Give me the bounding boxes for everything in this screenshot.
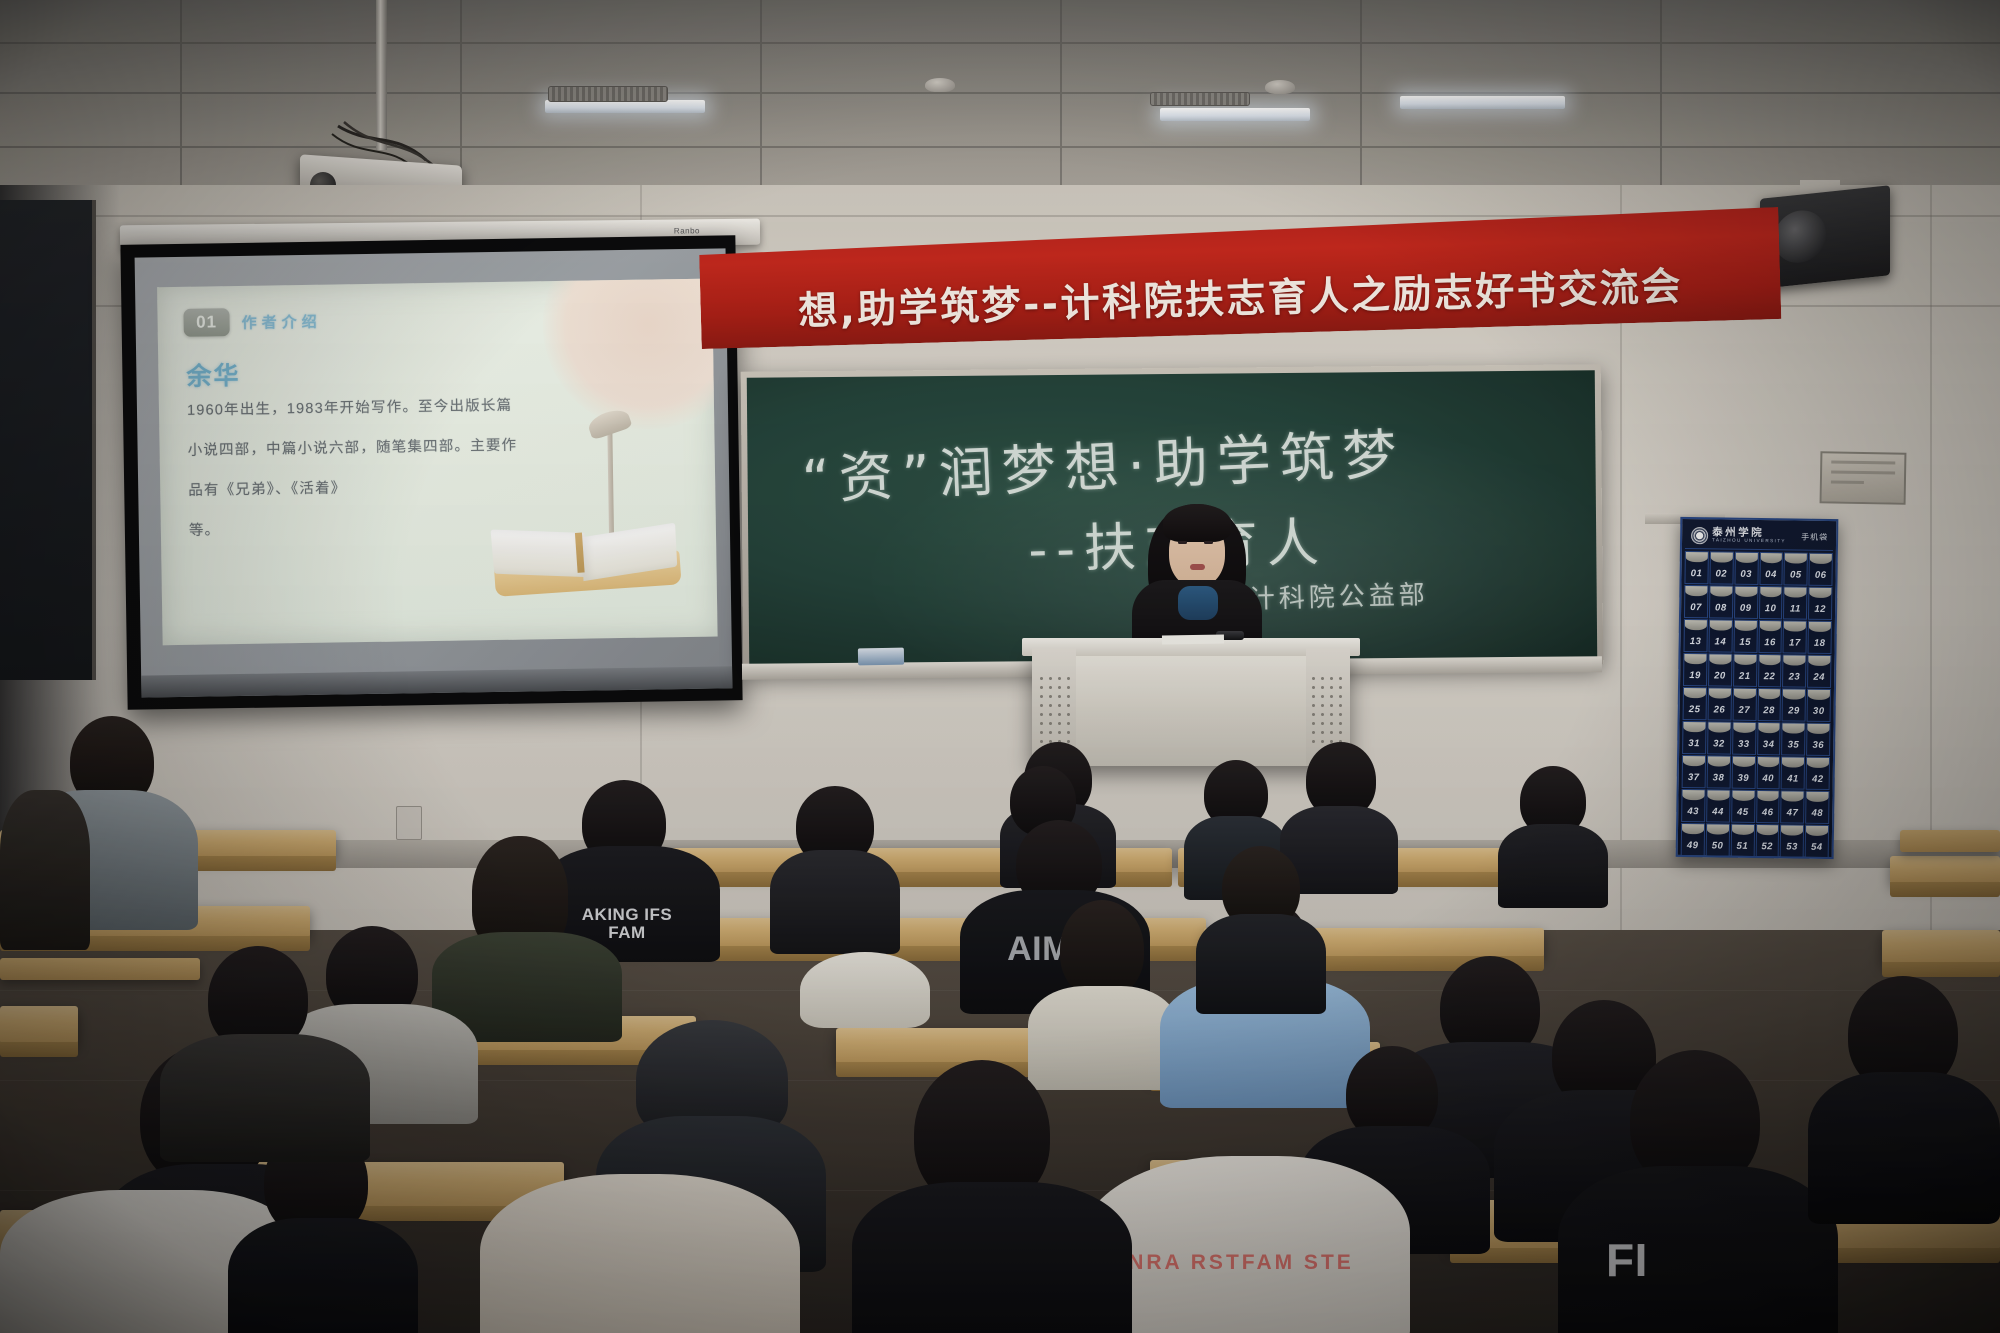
blackboard-eraser[interactable]: [858, 648, 904, 666]
phone-pocket-flap: [1758, 723, 1780, 733]
university-logo-icon: [1691, 527, 1708, 544]
book-page-left: [490, 529, 588, 577]
slide-section-title: 作者介绍: [241, 311, 321, 333]
phone-pocket-flap: [1783, 689, 1805, 699]
projection-screen-surface: 01 作者介绍 余华 1960年出生，1983年开始写作。至今出版长篇 小说四部…: [135, 248, 733, 697]
pocket-board-subtitle: 手机袋: [1801, 531, 1828, 542]
phone-pocket-flap: [1734, 689, 1756, 699]
phone-pocket-flap: [1759, 655, 1781, 665]
phone-pocket-cell[interactable]: 51: [1730, 824, 1754, 857]
phone-pocket-cell[interactable]: 13: [1683, 619, 1707, 652]
phone-pocket-cell[interactable]: 08: [1709, 585, 1733, 618]
phone-pocket-cell[interactable]: 31: [1682, 721, 1706, 754]
phone-pocket-cell[interactable]: 10: [1758, 586, 1782, 619]
phone-pocket-number: 52: [1761, 841, 1773, 852]
phone-pocket-cell[interactable]: 44: [1706, 789, 1730, 822]
phone-pocket-flap: [1684, 688, 1706, 698]
phone-pocket-flap: [1734, 655, 1756, 665]
phone-pocket-number: 22: [1764, 671, 1776, 682]
phone-pocket-number: 31: [1688, 738, 1700, 749]
phone-pocket-number: 29: [1788, 705, 1800, 716]
phone-pocket-cell[interactable]: 23: [1782, 654, 1806, 687]
phone-pocket-number: 49: [1687, 840, 1699, 851]
jacket-graphic-text: FI: [1572, 1236, 1682, 1284]
phone-pocket-cell[interactable]: 32: [1707, 721, 1731, 754]
coat-print-text: NRA RSTFAM STE: [1116, 1252, 1366, 1274]
phone-pocket-flap: [1806, 826, 1828, 836]
phone-pocket-flap: [1733, 757, 1755, 767]
phone-pocket-cell[interactable]: 48: [1805, 791, 1829, 824]
phone-pocket-cell[interactable]: 03: [1734, 552, 1758, 585]
desk-row: [1882, 930, 2000, 964]
phone-pocket-flap: [1807, 758, 1829, 768]
phone-pocket-number: 10: [1765, 603, 1777, 614]
phone-pocket-flap: [1709, 688, 1731, 698]
slide-body-line: 小说四部，中篇小说六部，随笔集四部。主要作: [187, 434, 517, 460]
phone-pocket-cell[interactable]: 42: [1806, 757, 1830, 790]
phone-pocket-flap: [1709, 654, 1731, 664]
phone-pocket-number: 23: [1789, 671, 1801, 682]
phone-pocket-cell[interactable]: 04: [1759, 552, 1783, 585]
phone-pocket-number: 07: [1690, 602, 1702, 613]
power-outlet[interactable]: [396, 806, 422, 840]
phone-pocket-number: 45: [1737, 807, 1749, 818]
student-left-dark: [160, 946, 370, 1146]
phone-pocket-cell[interactable]: 07: [1684, 585, 1708, 618]
phone-pocket-number: 39: [1737, 773, 1749, 784]
phone-pocket-flap: [1735, 553, 1757, 563]
smoke-detector-icon: [1265, 80, 1295, 94]
phone-pocket-number: 04: [1765, 569, 1777, 580]
phone-pocket-flap: [1783, 723, 1805, 733]
phone-pocket-flap: [1808, 724, 1830, 734]
phone-pocket-number: 36: [1812, 740, 1824, 751]
phone-pocket-number: 32: [1713, 738, 1725, 749]
desk-row: [0, 1006, 78, 1044]
phone-pocket-cell[interactable]: 25: [1683, 687, 1707, 720]
phone-pocket-cell[interactable]: 36: [1806, 723, 1830, 756]
phone-pocket-number: 38: [1713, 772, 1725, 783]
phone-pocket-number: 20: [1714, 670, 1726, 681]
phone-pocket-number: 48: [1811, 808, 1823, 819]
phone-pocket-flap: [1782, 791, 1804, 801]
phone-pocket-cell[interactable]: 06: [1809, 553, 1833, 586]
phone-pocket-number: 13: [1690, 636, 1702, 647]
phone-pocket-cell[interactable]: 22: [1758, 654, 1782, 687]
phone-pocket-flap: [1760, 553, 1782, 563]
phone-pocket-number: 08: [1715, 602, 1727, 613]
phone-pocket-cell[interactable]: 21: [1733, 654, 1757, 687]
student: [770, 786, 900, 946]
wall-notice-plate: [1820, 451, 1907, 504]
phone-pocket-cell[interactable]: 12: [1808, 587, 1832, 620]
phone-pocket-cell[interactable]: 28: [1757, 688, 1781, 721]
classroom-photo-scene: Ranbo 01 作者介绍 余华 1960年出生，1983年开始写作。至今出版长…: [0, 0, 2000, 1333]
phone-pocket-flap: [1781, 825, 1803, 835]
phone-pocket-flap: [1707, 790, 1729, 800]
slide-author-name: 余华: [186, 356, 241, 393]
phone-pocket-cell[interactable]: 14: [1708, 619, 1732, 652]
phone-pocket-flap: [1685, 620, 1707, 630]
phone-pocket-number: 43: [1687, 806, 1699, 817]
phone-pocket-cell[interactable]: 53: [1780, 824, 1804, 857]
phone-pocket-cell[interactable]: 17: [1783, 620, 1807, 653]
podium-perforation: [1037, 674, 1073, 748]
phone-pocket-cell[interactable]: 38: [1706, 755, 1730, 788]
phone-pocket-flap: [1707, 824, 1729, 834]
speaker-notes-paper: [1162, 634, 1224, 644]
phone-pocket-cell[interactable]: 01: [1684, 551, 1708, 584]
phone-pocket-cell[interactable]: 35: [1781, 722, 1805, 755]
phone-pocket-cell[interactable]: 37: [1682, 755, 1706, 788]
phone-pocket-cell[interactable]: 50: [1705, 823, 1729, 856]
phone-pocket-number: 14: [1715, 636, 1727, 647]
phone-pocket-flap: [1760, 587, 1782, 597]
presenter-scarf: [1178, 586, 1218, 620]
pocket-board-header: 泰州学院 TAIZHOU UNIVERSITY 手机袋: [1685, 522, 1833, 551]
phone-pocket-number: 46: [1762, 807, 1774, 818]
student: [1498, 766, 1608, 902]
phone-pocket-flap: [1807, 792, 1829, 802]
phone-pocket-number: 28: [1763, 705, 1775, 716]
student-left-edge: [0, 790, 90, 950]
phone-pocket-flap: [1757, 791, 1779, 801]
phone-pocket-cell[interactable]: 26: [1707, 687, 1731, 720]
slide-body-line: 等。: [189, 518, 221, 539]
ceiling-light: [1400, 96, 1565, 109]
phone-pocket-number: 05: [1790, 569, 1802, 580]
phone-pocket-flap: [1710, 620, 1732, 630]
phone-pocket-number: 51: [1736, 841, 1748, 852]
slide-body-line: 1960年出生，1983年开始写作。至今出版长篇: [187, 394, 513, 420]
phone-pocket-cell[interactable]: 24: [1807, 655, 1831, 688]
phone-pocket-number: 44: [1712, 806, 1724, 817]
screen-bottom-hem: [141, 666, 732, 697]
phone-pocket-cell[interactable]: 52: [1755, 824, 1779, 857]
phone-pocket-grid: 0102030405060708091011121314151617181920…: [1681, 549, 1833, 858]
phone-pocket-cell[interactable]: 49: [1681, 823, 1705, 856]
slide-decorative-circle: [541, 279, 718, 432]
student-front-center: [852, 1060, 1132, 1333]
phone-pocket-number: 02: [1715, 568, 1727, 579]
phone-pocket-flap: [1683, 756, 1705, 766]
phone-pocket-flap: [1810, 554, 1832, 564]
phone-pocket-number: 53: [1786, 841, 1798, 852]
phone-pocket-number: 17: [1789, 637, 1801, 648]
student: [1196, 846, 1326, 996]
phone-pocket-number: 26: [1714, 704, 1726, 715]
phone-pocket-number: 50: [1712, 840, 1724, 851]
phone-pocket-flap: [1757, 757, 1779, 767]
ceiling-light: [1160, 108, 1310, 121]
phone-pocket-cell[interactable]: 34: [1757, 722, 1781, 755]
phone-pocket-flap: [1782, 757, 1804, 767]
phone-pocket-number: 21: [1739, 671, 1751, 682]
phone-pocket-cell[interactable]: 47: [1780, 790, 1804, 823]
phone-pocket-flap: [1708, 722, 1730, 732]
phone-pocket-flap: [1808, 690, 1830, 700]
bench: [1900, 830, 2000, 852]
phone-pocket-number: 41: [1787, 773, 1799, 784]
pocket-board-titles: 泰州学院 TAIZHOU UNIVERSITY: [1712, 528, 1786, 544]
presenter-hair-top: [1163, 504, 1231, 542]
phone-pocket-flap: [1785, 587, 1807, 597]
phone-pocket-flap: [1758, 689, 1780, 699]
phone-pocket-flap: [1734, 621, 1756, 631]
phone-pocket-cell[interactable]: 02: [1709, 551, 1733, 584]
phone-pocket-number: 15: [1739, 637, 1751, 648]
phone-pocket-number: 09: [1740, 603, 1752, 614]
phone-pocket-number: 11: [1790, 603, 1801, 614]
window-dark-panel: [0, 200, 96, 680]
slide-illustration: [474, 413, 707, 627]
phone-pocket-flap: [1683, 722, 1705, 732]
phone-pocket-flap: [1756, 825, 1778, 835]
phone-pocket-number: 37: [1688, 772, 1700, 783]
phone-pocket-number: 18: [1814, 638, 1826, 649]
phone-pocket-flap: [1784, 621, 1806, 631]
phone-pocket-flap: [1682, 790, 1704, 800]
phone-pocket-cell[interactable]: 15: [1733, 620, 1757, 653]
phone-pocket-flap: [1686, 552, 1708, 562]
slide-section-badge: 01: [183, 308, 229, 337]
phone-pocket-cell[interactable]: 11: [1783, 586, 1807, 619]
presenter-eye: [1204, 541, 1213, 544]
phone-pocket-number: 34: [1763, 739, 1775, 750]
phone-pocket-cell[interactable]: 45: [1731, 790, 1755, 823]
phone-pocket-number: 12: [1814, 604, 1826, 615]
phone-pocket-number: 40: [1762, 773, 1774, 784]
phone-pocket-cell[interactable]: 20: [1708, 653, 1732, 686]
phone-pocket-cell[interactable]: 54: [1805, 825, 1829, 858]
phone-pocket-board: 泰州学院 TAIZHOU UNIVERSITY 手机袋 010203040506…: [1676, 517, 1839, 859]
presenter-mouth: [1190, 564, 1205, 570]
phone-pocket-flap: [1708, 756, 1730, 766]
student-cream-coat: [480, 1150, 800, 1333]
phone-pocket-flap: [1809, 588, 1831, 598]
student-right-edge: [1808, 976, 2000, 1216]
phone-pocket-flap: [1711, 552, 1733, 562]
phone-pocket-cell[interactable]: 18: [1808, 621, 1832, 654]
phone-pocket-flap: [1759, 621, 1781, 631]
phone-pocket-cell[interactable]: 16: [1758, 620, 1782, 653]
phone-pocket-cell[interactable]: 05: [1784, 552, 1808, 585]
phone-pocket-flap: [1733, 723, 1755, 733]
phone-pocket-number: 30: [1813, 706, 1825, 717]
phone-pocket-cell[interactable]: 43: [1681, 789, 1705, 822]
phone-pocket-number: 54: [1811, 842, 1823, 853]
phone-pocket-flap: [1732, 791, 1754, 801]
phone-pocket-number: 33: [1738, 739, 1750, 750]
phone-pocket-number: 42: [1812, 774, 1824, 785]
phone-pocket-flap: [1809, 622, 1831, 632]
phone-pocket-cell[interactable]: 19: [1683, 653, 1707, 686]
phone-pocket-flap: [1684, 654, 1706, 664]
phone-pocket-number: 03: [1740, 569, 1752, 580]
phone-pocket-flap: [1735, 587, 1757, 597]
phone-pocket-number: 24: [1813, 672, 1825, 683]
presentation-slide: 01 作者介绍 余华 1960年出生，1983年开始写作。至今出版长篇 小说四部…: [157, 279, 718, 646]
phone-pocket-cell[interactable]: 30: [1807, 689, 1831, 722]
phone-pocket-cell[interactable]: 33: [1732, 722, 1756, 755]
phone-pocket-cell[interactable]: 29: [1782, 688, 1806, 721]
phone-pocket-cell[interactable]: 27: [1732, 688, 1756, 721]
phone-pocket-flap: [1685, 586, 1707, 596]
backpack-on-desk: [800, 952, 930, 1028]
phone-pocket-number: 35: [1788, 739, 1800, 750]
phone-pocket-flap: [1808, 656, 1830, 666]
ceiling-vent: [1150, 92, 1250, 106]
phone-pocket-number: 19: [1689, 670, 1701, 681]
phone-pocket-cell[interactable]: 41: [1781, 756, 1805, 789]
student-front-right: FI: [1558, 1050, 1838, 1333]
phone-pocket-number: 47: [1787, 807, 1799, 818]
phone-pocket-cell[interactable]: 39: [1731, 756, 1755, 789]
phone-pocket-flap: [1784, 655, 1806, 665]
phone-pocket-number: 16: [1764, 637, 1776, 648]
slide-body-line: 品有《兄弟》、《活着》: [188, 476, 347, 499]
phone-pocket-number: 25: [1689, 704, 1701, 715]
speaker-cone-icon: [1774, 208, 1826, 265]
projection-screen: 01 作者介绍 余华 1960年出生，1983年开始写作。至今出版长篇 小说四部…: [120, 235, 742, 710]
phone-pocket-number: 01: [1691, 568, 1703, 579]
presenter-eye: [1178, 541, 1187, 544]
phone-pocket-flap: [1682, 824, 1704, 834]
ceiling-vent: [548, 86, 668, 102]
phone-pocket-cell[interactable]: 09: [1734, 586, 1758, 619]
smoke-detector-icon: [925, 78, 955, 92]
blackboard-line-3: 计科院公益部: [1248, 574, 1429, 616]
phone-pocket-number: 06: [1815, 570, 1827, 581]
phone-pocket-cell[interactable]: 40: [1756, 756, 1780, 789]
school-name-en: TAIZHOU UNIVERSITY: [1712, 538, 1786, 544]
phone-pocket-flap: [1732, 825, 1754, 835]
phone-pocket-flap: [1785, 553, 1807, 563]
podium-perforation: [1309, 674, 1345, 748]
screen-case-label: Ranbo: [674, 226, 700, 235]
desk-row: [1890, 856, 2000, 884]
phone-pocket-number: 27: [1738, 705, 1750, 716]
phone-pocket-cell[interactable]: 46: [1756, 790, 1780, 823]
phone-pocket-flap: [1710, 586, 1732, 596]
